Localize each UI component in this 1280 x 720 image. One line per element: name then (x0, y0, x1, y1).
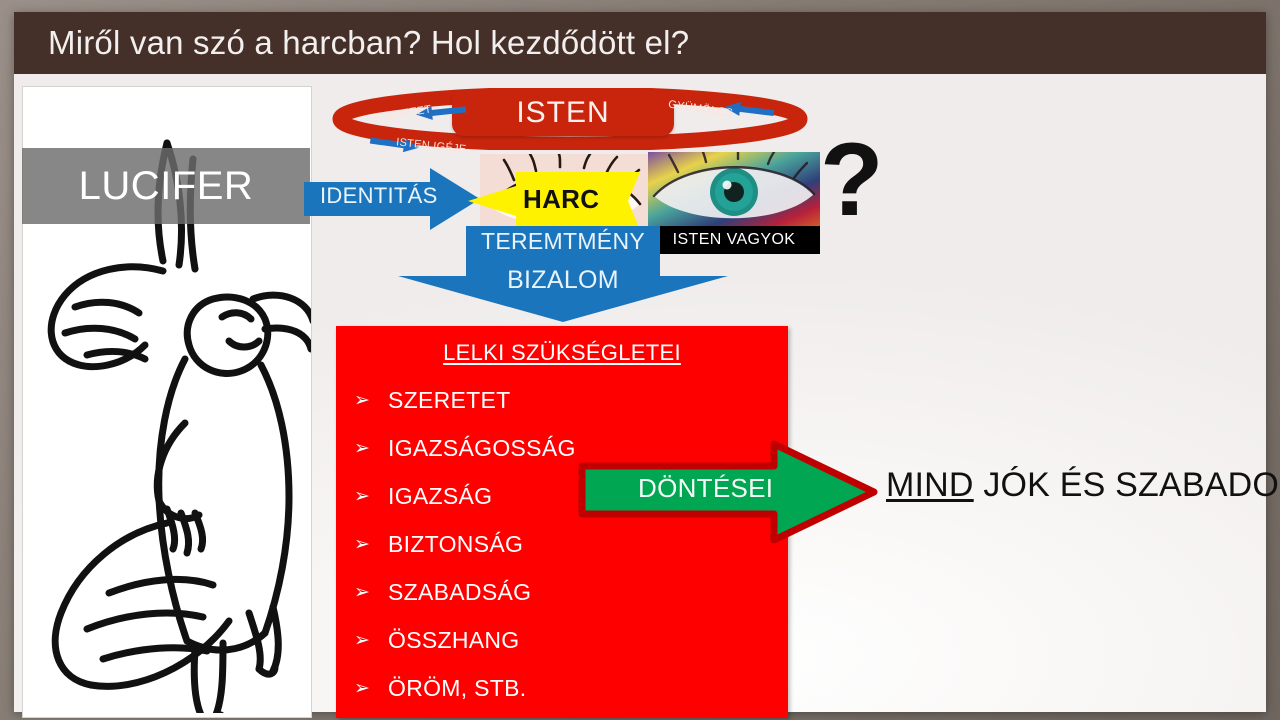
bizalom-label: BIZALOM (398, 266, 728, 295)
bullet-arrow-icon: ➢ (354, 581, 388, 604)
bullet-arrow-icon: ➢ (354, 485, 388, 508)
identitas-label: IDENTITÁS (320, 183, 438, 209)
outcome-emphasis: MIND (886, 466, 974, 504)
list-item-label: SZABADSÁG (388, 579, 531, 606)
outcome-text: MIND JÓK ÉS SZABADOK (886, 466, 1280, 505)
bullet-arrow-icon: ➢ (354, 437, 388, 460)
bullet-arrow-icon: ➢ (354, 677, 388, 700)
dontesei-label: DÖNTÉSEI (638, 473, 773, 504)
list-item-label: IGAZSÁG (388, 483, 492, 510)
teremtmeny-bizalom-arrow: TEREMTMÉNY BIZALOM (398, 226, 728, 322)
question-mark: ? (820, 128, 884, 232)
god-center-box: ISTEN (452, 90, 674, 136)
list-item-label: SZERETET (388, 387, 511, 414)
harc-arrow: HARC (468, 172, 640, 230)
lucifer-label-band: LUCIFER (22, 148, 310, 224)
bullet-arrow-icon: ➢ (354, 389, 388, 412)
list-item: ➢ ÖSSZHANG (354, 616, 788, 664)
harc-label: HARC (523, 184, 599, 215)
bullet-arrow-icon: ➢ (354, 629, 388, 652)
lucifer-label: LUCIFER (79, 164, 254, 209)
list-item-label: ÖRÖM, STB. (388, 675, 526, 702)
list-item: ➢ SZABADSÁG (354, 568, 788, 616)
teremtmeny-label: TEREMTMÉNY (398, 228, 728, 255)
list-item-label: ÖSSZHANG (388, 627, 519, 654)
god-label: ISTEN (516, 96, 609, 130)
needs-heading: LELKI SZÜKSÉGLETEI (336, 326, 788, 372)
slide: Miről van szó a harcban? Hol kezdődött e… (0, 0, 1280, 720)
list-item: ➢ SZERETET (354, 376, 788, 424)
outcome-rest: JÓK ÉS SZABADOK (974, 466, 1280, 504)
identitas-arrow: IDENTITÁS (304, 168, 480, 230)
list-item: ➢ ÖRÖM, STB. (354, 664, 788, 712)
painted-eye-image (648, 152, 820, 226)
list-item-label: BIZTONSÁG (388, 531, 523, 558)
decisions-arrow: DÖNTÉSEI (578, 440, 878, 544)
list-item-label: IGAZSÁGOSSÁG (388, 435, 576, 462)
slide-title-bar: Miről van szó a harcban? Hol kezdődött e… (14, 12, 1266, 74)
page-title: Miről van szó a harcban? Hol kezdődött e… (14, 24, 689, 62)
bullet-arrow-icon: ➢ (354, 533, 388, 556)
